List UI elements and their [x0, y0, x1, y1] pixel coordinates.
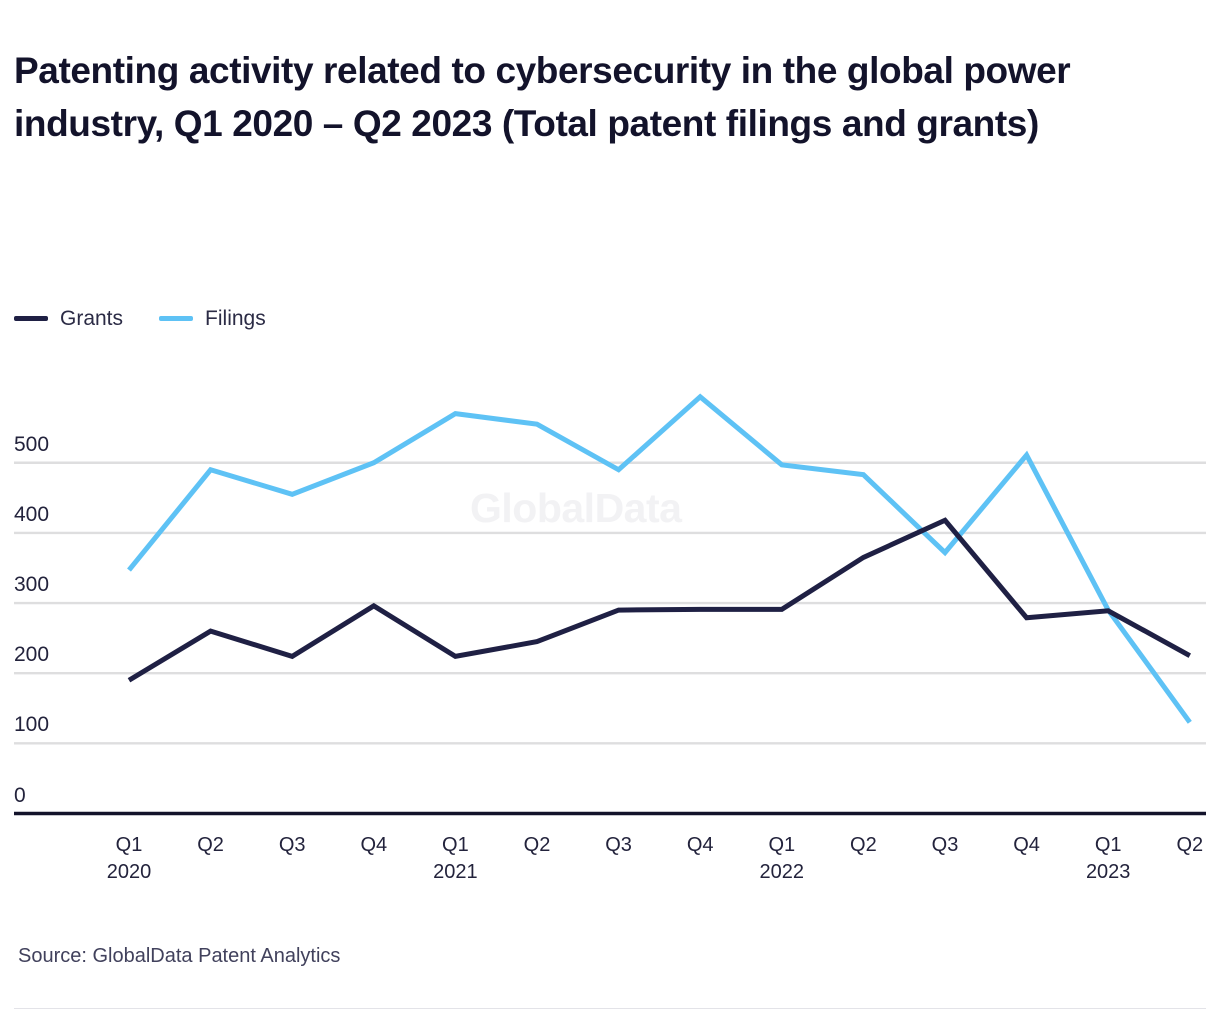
- x-tick-label-q4-2022: Q4: [987, 834, 1067, 857]
- x-tick-label-q1-2022: Q12022: [742, 834, 822, 884]
- x-tick-year: 2020: [89, 861, 169, 884]
- x-tick-label-q1-2020: Q12020: [89, 834, 169, 884]
- y-tick-label-300: 300: [14, 573, 74, 597]
- x-tick-label-q3-2022: Q3: [905, 834, 985, 857]
- watermark-globaldata: GlobalData: [470, 485, 681, 532]
- x-tick-quarter: Q1: [116, 834, 143, 856]
- x-tick-quarter: Q1: [1095, 834, 1122, 856]
- x-tick-quarter: Q4: [687, 834, 714, 856]
- x-tick-label-q2-2022: Q2: [823, 834, 903, 857]
- chart-legend: Grants Filings: [14, 308, 266, 329]
- x-tick-label-q2-2021: Q2: [497, 834, 577, 857]
- x-tick-quarter: Q1: [442, 834, 469, 856]
- x-tick-quarter: Q1: [768, 834, 795, 856]
- x-tick-year: 2022: [742, 861, 822, 884]
- x-tick-label-q2-2020: Q2: [171, 834, 251, 857]
- x-tick-quarter: Q2: [524, 834, 551, 856]
- x-tick-label-q1-2021: Q12021: [415, 834, 495, 884]
- legend-item-grants[interactable]: Grants: [14, 308, 123, 329]
- legend-label-filings: Filings: [205, 308, 266, 329]
- source-note: Source: GlobalData Patent Analytics: [18, 945, 340, 968]
- x-tick-year: 2023: [1068, 861, 1148, 884]
- legend-item-filings[interactable]: Filings: [159, 308, 266, 329]
- x-tick-quarter: Q3: [932, 834, 959, 856]
- line-swatch-icon: [14, 316, 48, 321]
- x-tick-quarter: Q2: [1176, 834, 1203, 856]
- x-tick-label-q4-2021: Q4: [660, 834, 740, 857]
- y-tick-label-100: 100: [14, 713, 74, 737]
- y-tick-label-400: 400: [14, 503, 74, 527]
- line-swatch-icon: [159, 316, 193, 321]
- x-tick-quarter: Q4: [1013, 834, 1040, 856]
- x-tick-label-q3-2020: Q3: [252, 834, 332, 857]
- x-tick-year: 2021: [415, 861, 495, 884]
- x-tick-quarter: Q2: [197, 834, 224, 856]
- x-tick-quarter: Q3: [605, 834, 632, 856]
- series-line-grants[interactable]: [129, 520, 1190, 680]
- y-tick-label-200: 200: [14, 643, 74, 667]
- x-tick-quarter: Q2: [850, 834, 877, 856]
- y-tick-label-500: 500: [14, 433, 74, 457]
- x-tick-label-q2-2023: Q2: [1150, 834, 1220, 857]
- x-tick-label-q1-2023: Q12023: [1068, 834, 1148, 884]
- footer-divider: [14, 1008, 1206, 1009]
- x-tick-quarter: Q4: [360, 834, 387, 856]
- legend-label-grants: Grants: [60, 308, 123, 329]
- x-tick-label-q4-2020: Q4: [334, 834, 414, 857]
- chart-page: Patenting activity related to cybersecur…: [0, 0, 1220, 1020]
- y-tick-label-0: 0: [14, 784, 74, 808]
- series-line-filings[interactable]: [129, 397, 1190, 722]
- x-tick-label-q3-2021: Q3: [579, 834, 659, 857]
- x-tick-quarter: Q3: [279, 834, 306, 856]
- page-title: Patenting activity related to cybersecur…: [14, 44, 1144, 150]
